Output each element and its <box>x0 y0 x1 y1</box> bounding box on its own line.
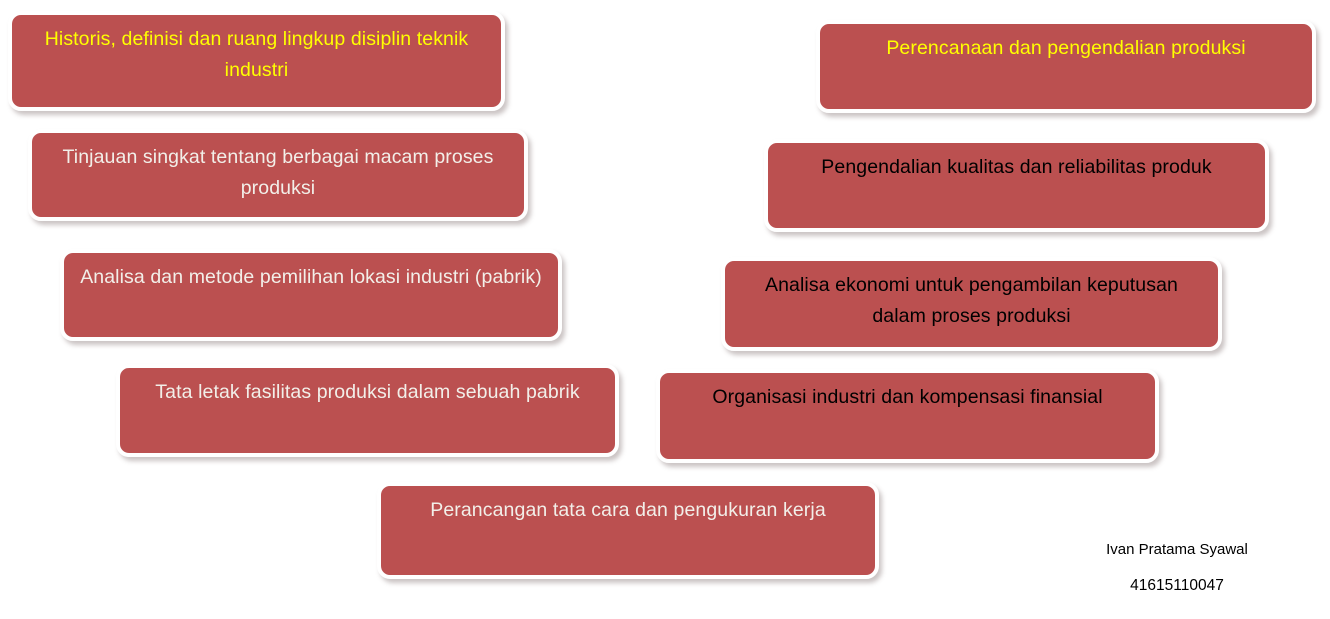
node-tinjauan-proses-produksi[interactable]: Tinjauan singkat tentang berbagai macam … <box>28 129 528 221</box>
node-label: Tinjauan singkat tentang berbagai macam … <box>32 133 524 204</box>
node-label: Analisa dan metode pemilihan lokasi indu… <box>64 253 558 293</box>
node-tata-letak-fasilitas[interactable]: Tata letak fasilitas produksi dalam sebu… <box>116 364 619 457</box>
node-analisa-lokasi-industri[interactable]: Analisa dan metode pemilihan lokasi indu… <box>60 249 562 341</box>
node-pengendalian-kualitas[interactable]: Pengendalian kualitas dan reliabilitas p… <box>764 139 1269 232</box>
node-label: Pengendalian kualitas dan reliabilitas p… <box>768 143 1265 183</box>
diagram-canvas: Historis, definisi dan ruang lingkup dis… <box>0 0 1330 619</box>
signature-block: Ivan Pratama Syawal 41615110047 <box>1032 541 1322 594</box>
node-analisa-ekonomi[interactable]: Analisa ekonomi untuk pengambilan keputu… <box>721 257 1222 351</box>
node-label: Perencanaan dan pengendalian produksi <box>820 24 1312 64</box>
author-name: Ivan Pratama Syawal <box>1032 541 1322 558</box>
node-label: Historis, definisi dan ruang lingkup dis… <box>12 15 501 86</box>
node-perencanaan-pengendalian-produksi[interactable]: Perencanaan dan pengendalian produksi <box>816 20 1316 113</box>
node-label: Perancangan tata cara dan pengukuran ker… <box>381 486 875 526</box>
node-historis-definisi[interactable]: Historis, definisi dan ruang lingkup dis… <box>8 11 505 111</box>
node-organisasi-industri[interactable]: Organisasi industri dan kompensasi finan… <box>656 369 1159 463</box>
node-label: Tata letak fasilitas produksi dalam sebu… <box>120 368 615 408</box>
node-label: Analisa ekonomi untuk pengambilan keputu… <box>725 261 1218 332</box>
node-perancangan-tata-cara[interactable]: Perancangan tata cara dan pengukuran ker… <box>377 482 879 579</box>
student-id: 41615110047 <box>1032 577 1322 594</box>
node-label: Organisasi industri dan kompensasi finan… <box>660 373 1155 413</box>
